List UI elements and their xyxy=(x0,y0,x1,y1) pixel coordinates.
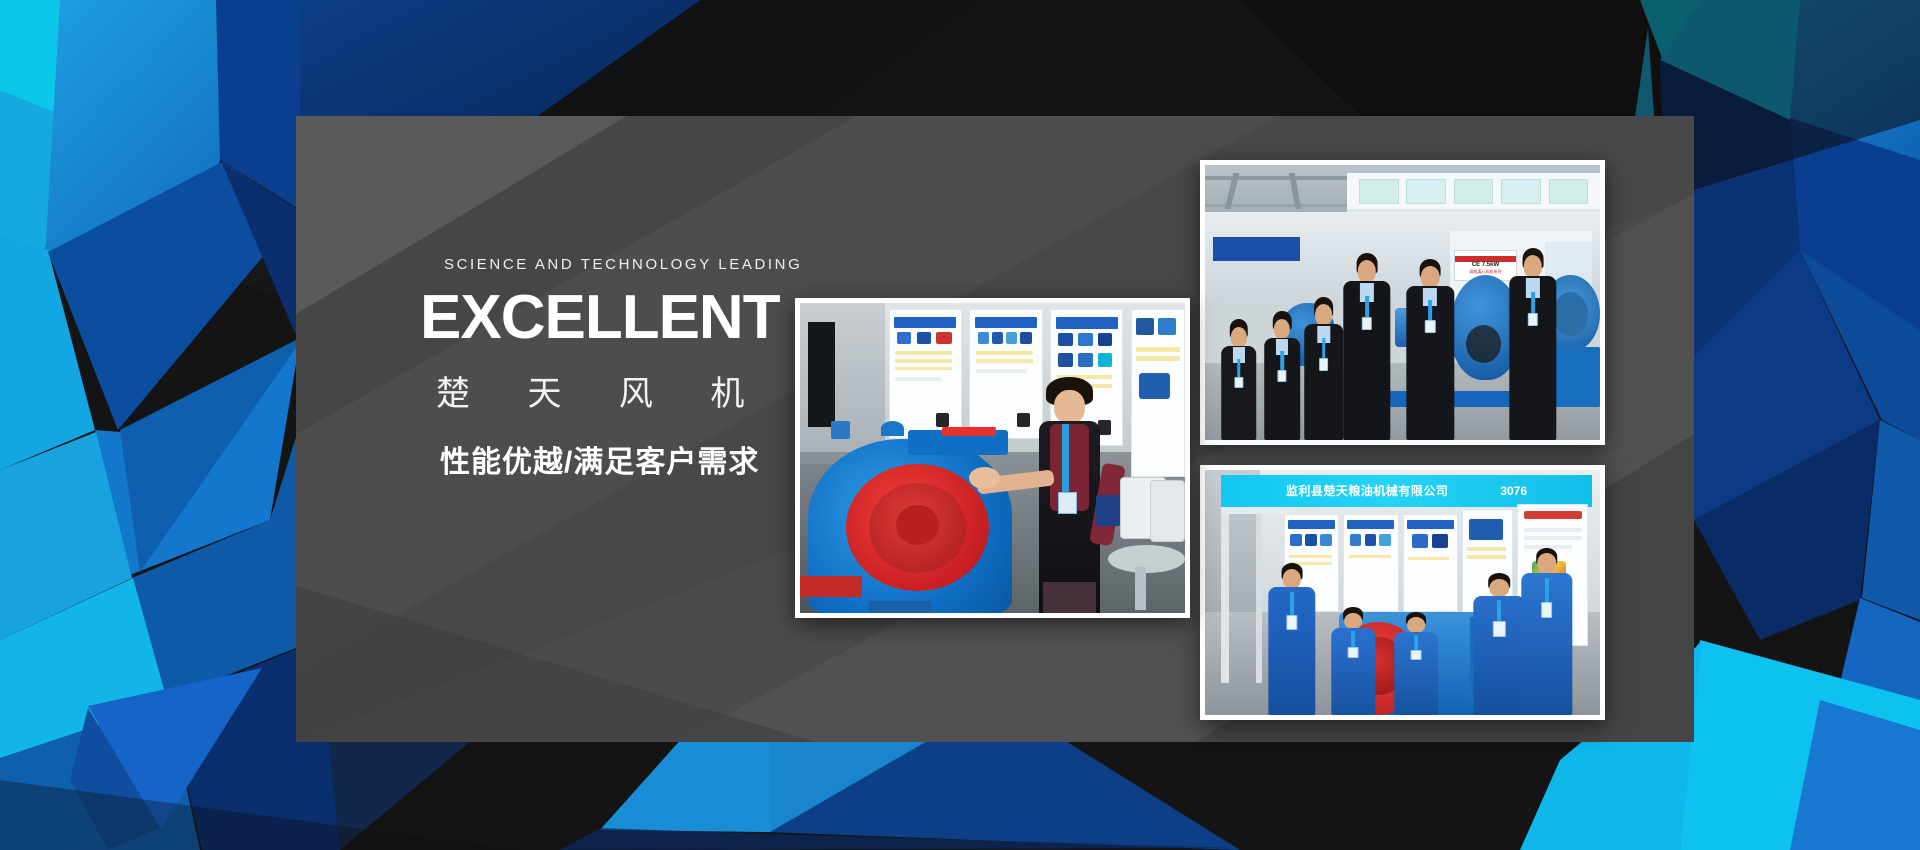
photo-exhibition-team-suits-image: CE 7.5kW 高效离心风机系列 xyxy=(1205,165,1600,440)
booth-number: 3076 xyxy=(1500,484,1527,498)
photo-exhibition-team-suits[interactable]: CE 7.5kW 高效离心风机系列 xyxy=(1200,160,1605,445)
eyebrow-text: SCIENCE AND TECHNOLOGY LEADING xyxy=(418,256,1058,273)
product-sign-sub: 高效离心风机系列 xyxy=(1469,269,1501,275)
hero-banner: SCIENCE AND TECHNOLOGY LEADING EXCELLENT… xyxy=(0,0,1920,850)
booth-banner-text: 监利县楚天粮油机械有限公司 xyxy=(1286,482,1449,499)
photo-exhibition-hostess-fan-image xyxy=(800,303,1185,613)
booth-banner: 监利县楚天粮油机械有限公司 3076 xyxy=(1221,475,1592,507)
product-sign-title: CE 7.5kW xyxy=(1472,262,1499,269)
photo-exhibition-team-blue-shirts-image: 监利县楚天粮油机械有限公司 3076 xyxy=(1205,470,1600,715)
photo-exhibition-team-blue-shirts[interactable]: 监利县楚天粮油机械有限公司 3076 xyxy=(1200,465,1605,720)
photo-exhibition-hostess-fan[interactable] xyxy=(795,298,1190,618)
